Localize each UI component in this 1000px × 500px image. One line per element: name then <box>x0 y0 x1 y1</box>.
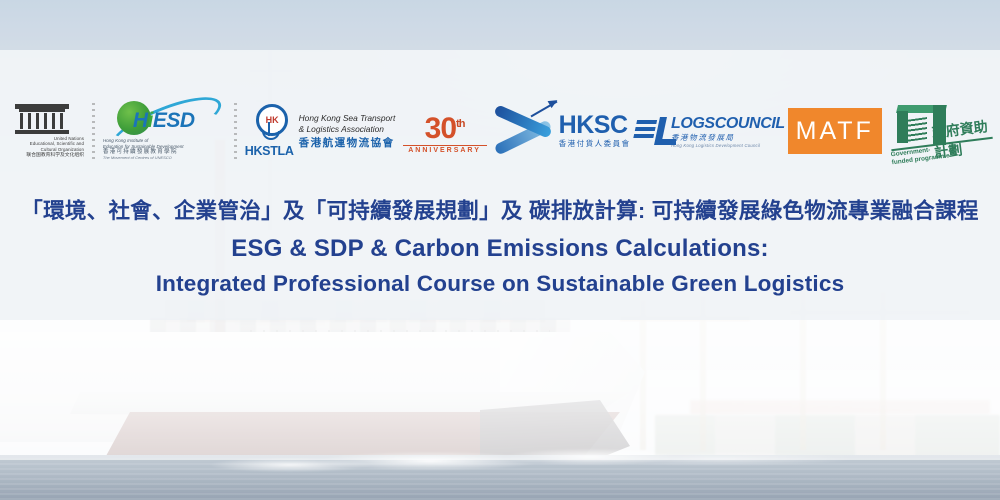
anniversary-rule <box>403 145 487 146</box>
anniversary-word: ANNIVERSARY <box>408 147 481 154</box>
logo-hkstla: HK HKSTLA Hong Kong Sea Transport & Logi… <box>245 104 399 158</box>
matf-wordmark: MATF <box>788 108 882 154</box>
anniversary-number: 30th <box>425 109 465 144</box>
hiesd-mark: HiESD <box>103 101 225 137</box>
hksc-chinese: 香港付貨人委員會 <box>559 138 631 149</box>
gov-mark: 政府資助計劃 Government-funded programme <box>889 103 995 159</box>
logscouncil-footnote: Hong Kong Logistics Development Council <box>671 143 785 148</box>
logscouncil-chinese: 香港物流發展局 <box>671 132 785 143</box>
logo-government-funded-programme: 政府資助計劃 Government-funded programme <box>885 103 1000 159</box>
hkstla-anchor-badge-icon: HK <box>252 104 286 144</box>
hkstla-abbr: HKSTLA <box>245 144 294 158</box>
anniversary-superscript: th <box>456 118 464 130</box>
anniversary-digits: 30 <box>425 112 456 145</box>
hiesd-footnote: The Movement of Centres of UNESCO <box>103 155 184 161</box>
hkstla-line-1: Hong Kong Sea Transport <box>299 113 396 123</box>
title-block: 「環境、社會、企業管治」及「可持續發展規劃」及 碳排放計算: 可持續發展綠色物流… <box>0 196 1000 301</box>
partner-logo-row: United Nations Educational, Scientific a… <box>0 92 1000 170</box>
hkstla-chinese: 香港航運物流協會 <box>299 135 396 150</box>
hkstla-line-2: & Logistics Association <box>299 124 396 134</box>
unesco-temple-icon <box>15 104 69 134</box>
title-chinese: 「環境、社會、企業管治」及「可持續發展規劃」及 碳排放計算: 可持續發展綠色物流… <box>0 196 1000 226</box>
logo-matf: MATF <box>785 108 885 154</box>
hksc-x-arrow-icon <box>491 112 555 150</box>
logscouncil-wordmark: LOGSCOUNCIL <box>671 115 785 132</box>
title-english-line-1: ESG & SDP & Carbon Emissions Calculation… <box>0 231 1000 267</box>
logo-30th-anniversary: 30th ANNIVERSARY <box>398 109 490 154</box>
hksc-abbr: HKSC <box>559 113 631 138</box>
logo-hiesd: HiESD Hong Kong Institute of Education f… <box>103 101 226 160</box>
logscouncil-wave-l-icon <box>635 117 667 145</box>
banner-content: United Nations Educational, Scientific a… <box>0 0 1000 500</box>
course-banner: United Nations Educational, Scientific a… <box>0 0 1000 500</box>
logo-divider-1 <box>92 103 95 159</box>
logo-unesco: United Nations Educational, Scientific a… <box>0 104 84 158</box>
logo-logscouncil: LOGSCOUNCIL 香港物流發展局 Hong Kong Logistics … <box>635 115 785 148</box>
unesco-caption: United Nations Educational, Scientific a… <box>0 136 84 158</box>
hiesd-wordmark: HiESD <box>133 109 195 133</box>
anchor-icon <box>262 122 276 138</box>
logo-hksc: HKSC 香港付貨人委員會 <box>491 112 635 150</box>
unesco-chinese: 联合国教育科学及文化组织 <box>0 153 84 159</box>
title-english-line-2: Integrated Professional Course on Sustai… <box>0 267 1000 301</box>
logo-divider-2 <box>234 103 237 159</box>
